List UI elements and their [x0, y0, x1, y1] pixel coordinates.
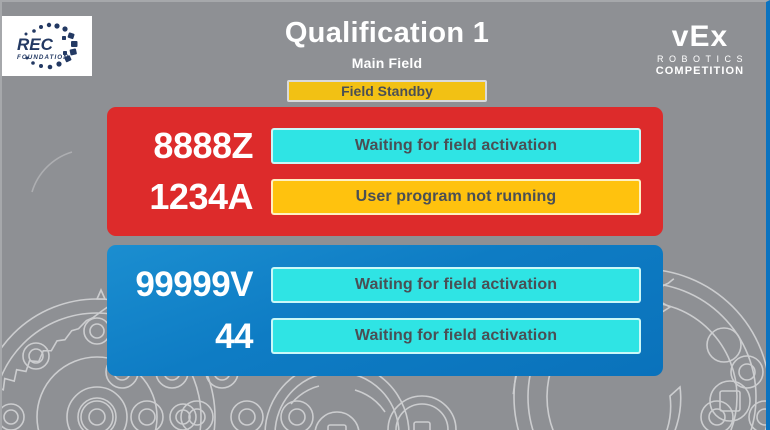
vex-wordmark: vEx — [652, 22, 748, 52]
blue-alliance-panel: 99999V Waiting for field activation 44 W… — [107, 245, 663, 376]
team-status-bar: Waiting for field activation — [271, 318, 641, 354]
team-number: 1234A — [125, 179, 271, 215]
team-number: 8888Z — [125, 128, 271, 164]
team-row: 99999V Waiting for field activation — [125, 259, 641, 311]
team-number: 99999V — [125, 267, 271, 302]
team-number: 44 — [125, 319, 271, 354]
team-row: 44 Waiting for field activation — [125, 311, 641, 363]
team-row: 8888Z Waiting for field activation — [125, 121, 641, 172]
field-state-badge: Field Standby — [287, 80, 487, 102]
vex-robotics-text: ROBOTICS — [652, 55, 748, 64]
red-alliance-panel: 8888Z Waiting for field activation 1234A… — [107, 107, 663, 236]
field-display-screen: REC FOUNDATION vEx ROBOTICS COMPETITION … — [0, 0, 770, 430]
vex-competition-text: COMPETITION — [652, 66, 748, 77]
rec-logo-text: REC — [17, 35, 54, 54]
team-status-bar: Waiting for field activation — [271, 267, 641, 303]
vex-robotics-competition-logo: vEx ROBOTICS COMPETITION — [652, 22, 748, 77]
team-row: 1234A User program not running — [125, 172, 641, 223]
team-status-bar: Waiting for field activation — [271, 128, 641, 164]
rec-foundation-logo-mark: REC FOUNDATION — [5, 18, 89, 74]
rec-logo-subtext: FOUNDATION — [17, 54, 69, 61]
rec-foundation-logo: REC FOUNDATION — [2, 16, 92, 76]
team-status-bar: User program not running — [271, 179, 641, 215]
